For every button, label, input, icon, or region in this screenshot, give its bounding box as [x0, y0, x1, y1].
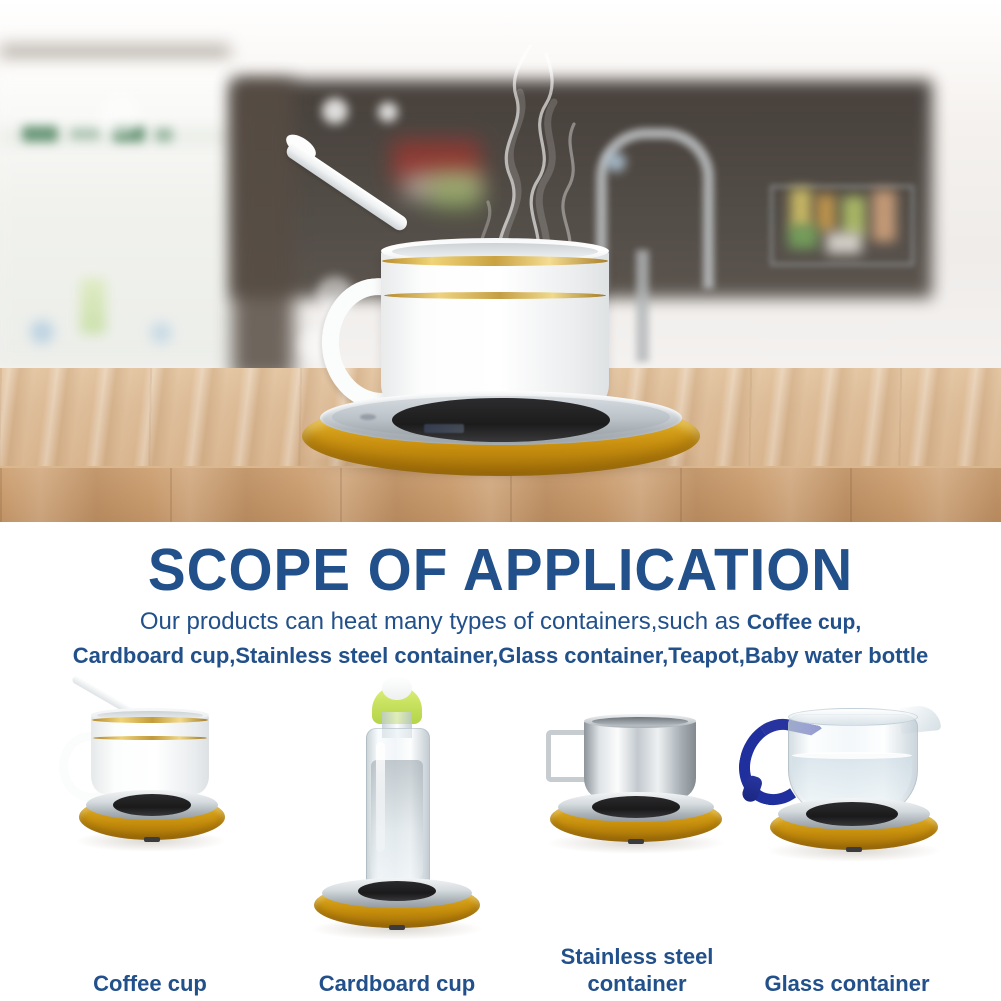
mug-interior: [592, 717, 688, 726]
hero-product-set: [0, 0, 1001, 522]
product-feature-page: SCOPE OF APPLICATION Our products can he…: [0, 0, 1001, 1001]
spoon-icon: [284, 141, 410, 233]
subtitle-line-2: Cardboard cup,Stainless steel container,…: [0, 640, 1001, 671]
item-caption-line: Coffee cup: [93, 971, 207, 996]
teapot-waterline: [792, 752, 912, 759]
subtitle-line-1-regular: Our products can heat many types of cont…: [140, 608, 747, 635]
warmer-center-ring: [592, 796, 680, 818]
coffee-mug: [91, 714, 209, 794]
stainless-steel-mug: [584, 720, 696, 798]
warmer-foot: [389, 925, 405, 930]
steam-icon: [430, 40, 630, 270]
warmer-foot: [144, 837, 160, 842]
page-title: SCOPE OF APPLICATION: [20, 536, 981, 604]
container-item-cardboard-cup[interactable]: Cardboard cup: [272, 672, 522, 1001]
teapot-rim: [788, 708, 918, 726]
subtitle-block: Our products can heat many types of cont…: [0, 606, 1001, 671]
hero-photo: [0, 0, 1001, 522]
item-caption-line: Cardboard cup: [319, 971, 475, 996]
mug-gold-band-lower: [93, 736, 207, 740]
subtitle-line-1-bold: Coffee cup,: [747, 611, 861, 634]
mug-gold-band-upper: [92, 717, 208, 723]
coffee-mug: [381, 248, 609, 410]
item-caption: Glass container: [722, 970, 972, 997]
item-caption-line: container: [587, 971, 686, 996]
bottle-highlight: [376, 742, 385, 852]
warmer-foot: [628, 839, 644, 844]
container-item-glass-container[interactable]: Glass container: [722, 672, 972, 1001]
bottle-cap-top: [382, 676, 412, 700]
mug-gold-band-upper: [382, 256, 608, 266]
warmer-center-ring: [392, 398, 610, 442]
warmer-center-ring: [806, 802, 898, 826]
container-item-coffee-cup[interactable]: Coffee cup: [25, 672, 275, 1001]
application-scope-panel: SCOPE OF APPLICATION Our products can he…: [0, 522, 1001, 1001]
item-caption-line: Stainless steel: [561, 944, 714, 969]
mug-gold-band-lower: [384, 292, 606, 299]
warmer-brand-logo: [424, 424, 464, 433]
warmer-center-ring: [358, 881, 436, 901]
warmer-foot: [846, 847, 862, 852]
container-types-row: Coffee cup Cardboard cup: [0, 672, 1001, 1001]
subtitle-line-1: Our products can heat many types of cont…: [0, 606, 1001, 640]
warmer-center-ring: [113, 794, 191, 816]
warmer-indicator: [360, 414, 376, 420]
item-caption: Coffee cup: [25, 970, 275, 997]
item-caption: Cardboard cup: [272, 970, 522, 997]
item-caption-line: Glass container: [764, 971, 929, 996]
